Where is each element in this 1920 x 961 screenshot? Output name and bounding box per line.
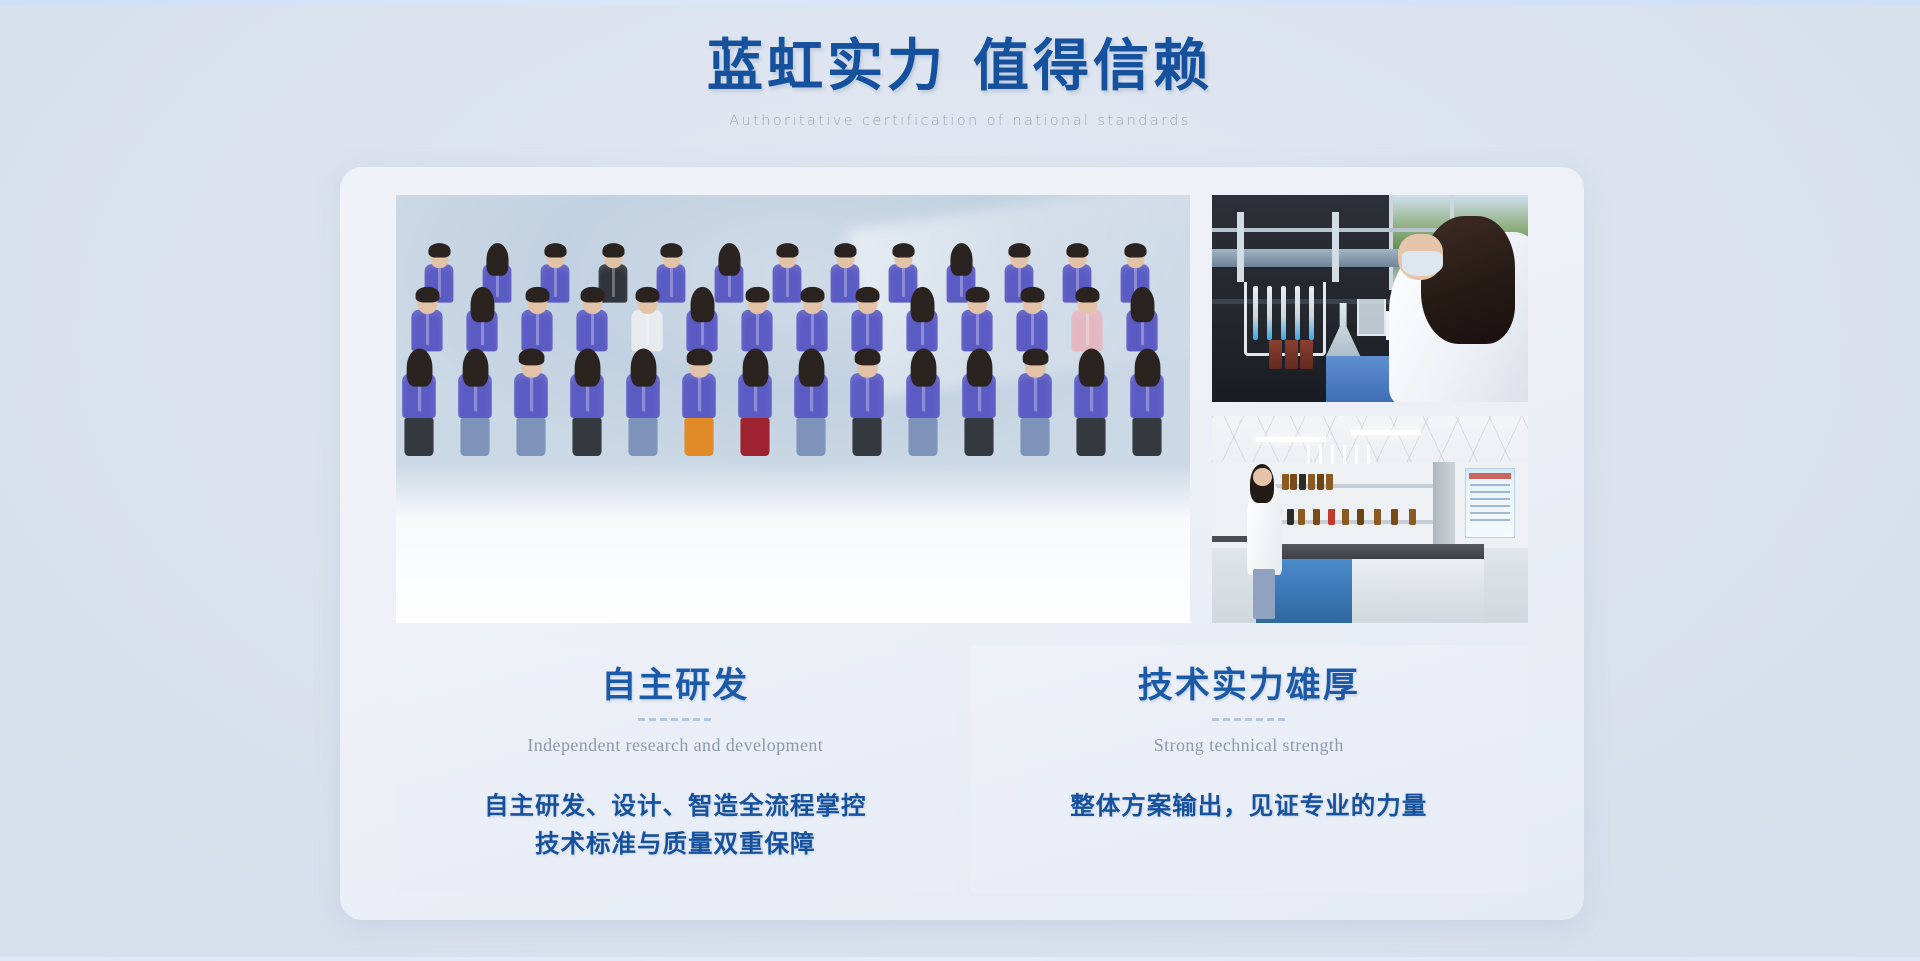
- person-uniform: [1016, 310, 1047, 352]
- group-photo-person: [741, 291, 772, 351]
- person-hair: [544, 243, 566, 257]
- person-hair: [1066, 243, 1088, 257]
- person-hair: [800, 287, 824, 303]
- person-uniform: [576, 310, 607, 352]
- person-hair: [1008, 243, 1030, 257]
- feature-card-tech[interactable]: 技术实力雄厚 Strong technical strength 整体方案输出，…: [970, 645, 1529, 893]
- person-legs: [684, 418, 713, 456]
- person-hair: [462, 349, 488, 387]
- person-head: [472, 291, 492, 314]
- person-head: [836, 247, 854, 268]
- person-hair: [486, 243, 508, 276]
- person-head: [527, 291, 547, 314]
- person-head: [800, 353, 821, 378]
- group-photo-person: [1074, 353, 1108, 456]
- person-hair: [574, 349, 600, 387]
- person-head: [1068, 247, 1086, 268]
- person-head: [1126, 247, 1144, 268]
- feature-card-rnd[interactable]: 自主研发 Independent research and developmen…: [396, 645, 955, 893]
- group-photo-person: [796, 291, 827, 351]
- person-head: [464, 353, 485, 378]
- person-hair: [1075, 287, 1099, 303]
- lab-image-column: [1212, 195, 1528, 623]
- lab1-shelf-post-left: [1237, 212, 1244, 282]
- person-hair: [602, 243, 624, 257]
- person-hair: [690, 287, 714, 322]
- person-hair: [470, 287, 494, 322]
- card-body: 整体方案输出，见证专业的力量: [970, 788, 1529, 826]
- person-hair: [910, 287, 934, 322]
- person-hair: [892, 243, 914, 257]
- person-head: [747, 291, 767, 314]
- group-photo-person: [686, 291, 717, 351]
- card-subtitle: Strong technical strength: [970, 735, 1529, 756]
- group-photo-person: [851, 291, 882, 351]
- page-title-part2: 值得信赖: [973, 36, 1213, 98]
- person-hair: [630, 349, 656, 387]
- card-divider-dots: [638, 718, 712, 721]
- person-head: [632, 353, 653, 378]
- person-hair: [745, 287, 769, 303]
- feature-cards: 自主研发 Independent research and developmen…: [396, 645, 1528, 893]
- lab1-shelf-post-right: [1332, 212, 1339, 282]
- person-legs: [404, 418, 433, 456]
- top-accent-strip: [0, 0, 1920, 5]
- lab2-reagents-upper: [1282, 474, 1345, 490]
- group-photo-person: [715, 247, 744, 303]
- person-hair: [525, 287, 549, 303]
- person-legs: [964, 418, 993, 456]
- group-photo-person: [738, 353, 772, 456]
- person-head: [688, 353, 709, 378]
- person-head: [802, 291, 822, 314]
- person-hair: [1022, 349, 1048, 366]
- lab1-technician-hair: [1421, 216, 1516, 344]
- person-head: [856, 353, 877, 378]
- page-title: 蓝虹实力值得信赖: [0, 32, 1920, 102]
- person-head: [662, 247, 680, 268]
- person-head: [1010, 247, 1028, 268]
- person-head: [952, 247, 970, 268]
- person-uniform: [1071, 310, 1102, 352]
- person-head: [546, 247, 564, 268]
- group-photo-person: [521, 291, 552, 351]
- group-photo-person: [466, 291, 497, 351]
- media-gallery: [396, 195, 1528, 623]
- group-photo-person: [906, 353, 940, 456]
- person-hair: [798, 349, 824, 387]
- page-subtitle: Authoritative certification of national …: [0, 113, 1920, 129]
- person-hair: [686, 349, 712, 366]
- person-hair: [580, 287, 604, 303]
- lab2-bench-top: [1256, 544, 1484, 558]
- person-head: [720, 247, 738, 268]
- lab1-reagent-bottles: [1269, 340, 1313, 369]
- group-photo-person: [850, 353, 884, 456]
- lab2-technician-legs: [1253, 569, 1275, 619]
- person-hair: [1134, 349, 1160, 387]
- lab2-ceiling-light-1: [1256, 437, 1326, 442]
- person-hair: [1078, 349, 1104, 387]
- group-photo-person: [794, 353, 828, 456]
- group-photo-person: [1018, 353, 1052, 456]
- person-head: [968, 353, 989, 378]
- person-legs: [1076, 418, 1105, 456]
- group-photo-person: [1126, 291, 1157, 351]
- person-hair: [742, 349, 768, 387]
- person-uniform: [850, 373, 884, 418]
- group-photo-person: [576, 291, 607, 351]
- lab1-technician-mask: [1402, 251, 1443, 276]
- card-subtitle: Independent research and development: [396, 735, 955, 756]
- person-head: [1132, 291, 1152, 314]
- laboratory-room-image[interactable]: [1212, 416, 1528, 623]
- person-uniform: [514, 373, 548, 418]
- group-photo-person: [1071, 291, 1102, 351]
- person-hair: [950, 243, 972, 276]
- group-photo-person: [1130, 353, 1164, 456]
- person-legs: [796, 418, 825, 456]
- card-divider-dots: [1212, 718, 1286, 721]
- person-head: [604, 247, 622, 268]
- group-photo-person: [570, 353, 604, 456]
- group-photo-person: [458, 353, 492, 456]
- person-legs: [740, 418, 769, 456]
- group-photo-person: [514, 353, 548, 456]
- person-hair: [965, 287, 989, 303]
- person-uniform: [796, 310, 827, 352]
- person-hair: [718, 243, 740, 276]
- person-head: [692, 291, 712, 314]
- person-uniform: [682, 373, 716, 418]
- person-hair: [910, 349, 936, 387]
- person-legs: [908, 418, 937, 456]
- page-header: 蓝虹实力值得信赖 Authoritative certification of …: [0, 32, 1920, 129]
- person-uniform: [851, 310, 882, 352]
- person-head: [488, 247, 506, 268]
- lab2-ceiling-light-2: [1351, 430, 1421, 435]
- person-head: [417, 291, 437, 314]
- person-hair: [966, 349, 992, 387]
- lab-technician-image[interactable]: [1212, 195, 1528, 402]
- person-uniform: [411, 310, 442, 352]
- person-hair: [635, 287, 659, 303]
- person-uniform: [631, 310, 662, 352]
- person-uniform: [741, 310, 772, 352]
- group-photo-person: [961, 291, 992, 351]
- person-hair: [660, 243, 682, 257]
- person-head: [894, 247, 912, 268]
- person-uniform: [961, 310, 992, 352]
- person-legs: [1020, 418, 1049, 456]
- person-head: [967, 291, 987, 314]
- person-uniform: [521, 310, 552, 352]
- bottom-accent-strip: [0, 957, 1920, 961]
- person-head: [430, 247, 448, 268]
- person-head: [744, 353, 765, 378]
- person-head: [857, 291, 877, 314]
- person-head: [1077, 291, 1097, 314]
- card-body: 自主研发、设计、智造全流程掌控 技术标准与质量双重保障: [396, 788, 955, 864]
- person-head: [520, 353, 541, 378]
- group-photo-person: [411, 291, 442, 351]
- lab1-pipettes: [1253, 286, 1316, 340]
- person-hair: [415, 287, 439, 303]
- group-photo-person: [1016, 291, 1047, 351]
- person-legs: [1132, 418, 1161, 456]
- group-photo-person: [631, 291, 662, 351]
- person-head: [778, 247, 796, 268]
- person-hair: [855, 287, 879, 303]
- person-hair: [1124, 243, 1146, 257]
- page-root: 蓝虹实力值得信赖 Authoritative certification of …: [0, 0, 1920, 961]
- person-legs: [628, 418, 657, 456]
- group-photo-person: [962, 353, 996, 456]
- person-head: [576, 353, 597, 378]
- person-legs: [460, 418, 489, 456]
- card-body-line-2: 技术标准与质量双重保障: [396, 826, 955, 864]
- card-body-line-1: 整体方案输出，见证专业的力量: [970, 788, 1529, 826]
- lab1-beaker: [1357, 299, 1385, 336]
- lab2-glassware-row: [1307, 445, 1377, 464]
- group-photo-floor: [396, 463, 1190, 623]
- person-head: [1080, 353, 1101, 378]
- card-body-line-1: 自主研发、设计、智造全流程掌控: [396, 788, 955, 826]
- person-head: [912, 353, 933, 378]
- page-title-part1: 蓝虹实力: [707, 36, 947, 98]
- person-legs: [852, 418, 881, 456]
- lab1-shelf: [1212, 228, 1440, 232]
- lab2-fume-hood-column: [1433, 462, 1455, 557]
- lab2-reagents-lower: [1275, 509, 1420, 525]
- person-hair: [518, 349, 544, 366]
- person-head: [1024, 353, 1045, 378]
- person-hair: [776, 243, 798, 257]
- person-hair: [834, 243, 856, 257]
- group-photo[interactable]: [396, 195, 1190, 623]
- person-head: [408, 353, 429, 378]
- person-head: [1136, 353, 1157, 378]
- lab2-safety-notice-board: [1465, 468, 1516, 538]
- person-hair: [854, 349, 880, 366]
- person-hair: [1130, 287, 1154, 322]
- person-hair: [406, 349, 432, 387]
- person-hair: [1020, 287, 1044, 303]
- person-head: [1022, 291, 1042, 314]
- group-photo-person: [626, 353, 660, 456]
- group-photo-person: [402, 353, 436, 456]
- group-photo-person: [682, 353, 716, 456]
- card-title: 技术实力雄厚: [970, 663, 1529, 709]
- lab2-base-cabinets: [1256, 559, 1484, 623]
- group-photo-person: [906, 291, 937, 351]
- card-title: 自主研发: [396, 663, 955, 709]
- person-head: [637, 291, 657, 314]
- person-head: [582, 291, 602, 314]
- person-legs: [572, 418, 601, 456]
- person-hair: [428, 243, 450, 257]
- person-legs: [516, 418, 545, 456]
- person-uniform: [1018, 373, 1052, 418]
- person-head: [912, 291, 932, 314]
